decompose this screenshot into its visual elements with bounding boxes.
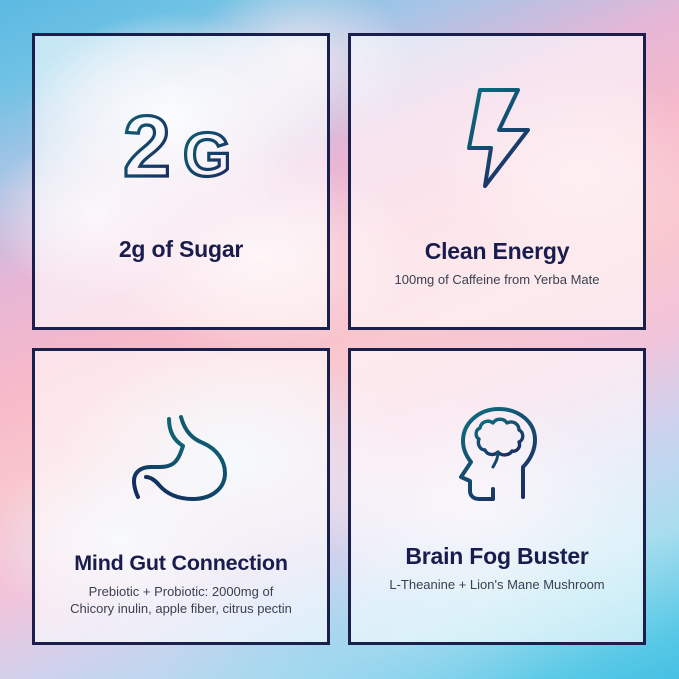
- benefits-infographic: 2 G 2g of Sugar Clean Energy 100mg of Ca…: [0, 0, 679, 679]
- panel-title-mind-gut: Mind Gut Connection: [74, 551, 288, 576]
- svg-text:2: 2: [123, 99, 168, 195]
- panel-title-clean-energy: Clean Energy: [425, 238, 570, 264]
- two-grams-outline-icon: 2 G: [35, 102, 327, 194]
- subtitle-line-1: Prebiotic + Probiotic: 2000mg of: [70, 583, 292, 601]
- panel-title-sugar: 2g of Sugar: [119, 236, 243, 262]
- panel-title-brain-fog: Brain Fog Buster: [405, 543, 588, 569]
- panel-subtitle-brain-fog: L-Theanine + Lion's Mane Mushroom: [381, 576, 612, 594]
- panel-clean-energy[interactable]: Clean Energy 100mg of Caffeine from Yerb…: [348, 33, 646, 330]
- stomach-icon: [35, 413, 327, 503]
- svg-text:G: G: [183, 121, 228, 190]
- panel-subtitle-clean-energy: 100mg of Caffeine from Yerba Mate: [387, 271, 608, 289]
- lightning-bolt-icon: [351, 86, 643, 190]
- panel-sugar[interactable]: 2 G 2g of Sugar: [32, 33, 330, 330]
- subtitle-line-2: Chicory inulin, apple fiber, citrus pect…: [70, 600, 292, 618]
- panel-mind-gut-connection[interactable]: Mind Gut Connection Prebiotic + Probioti…: [32, 348, 330, 645]
- panel-subtitle-mind-gut: Prebiotic + Probiotic: 2000mg of Chicory…: [62, 583, 300, 618]
- head-brain-icon: [351, 405, 643, 503]
- benefits-grid: 2 G 2g of Sugar Clean Energy 100mg of Ca…: [32, 33, 646, 646]
- panel-brain-fog-buster[interactable]: Brain Fog Buster L-Theanine + Lion's Man…: [348, 348, 646, 645]
